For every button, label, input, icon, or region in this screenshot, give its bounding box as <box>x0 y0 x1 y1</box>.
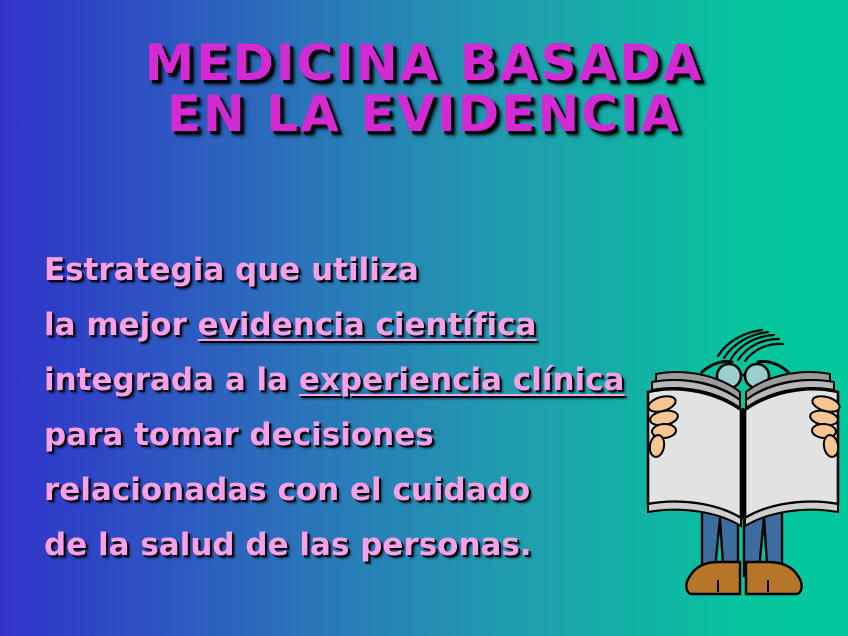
body-line-1: Estrategia que utiliza <box>44 243 684 298</box>
body-line-1-plain: Estrategia que utiliza <box>44 252 419 288</box>
body-line-4-plain: para tomar decisiones <box>44 417 434 453</box>
body-line-5: relacionadas con el cuidado <box>44 463 684 518</box>
body-line-2-plain: la mejor <box>44 307 198 343</box>
body-line-2: la mejor evidencia científica <box>44 298 684 353</box>
book-icon <box>648 389 838 526</box>
body-line-3-plain: integrada a la <box>44 362 299 398</box>
body-line-6: de la salud de las personas. <box>44 518 684 573</box>
body-line-3: integrada a la experiencia clínica <box>44 353 684 408</box>
body-line-6-plain: de la salud de las personas. <box>44 527 532 563</box>
emphasis-experiencia-clinica: experiencia clínica <box>299 362 625 398</box>
page-title: MEDICINA BASADA EN LA EVIDENCIA <box>0 38 848 140</box>
body-line-5-plain: relacionadas con el cuidado <box>44 472 530 508</box>
slide-canvas: MEDICINA BASADA EN LA EVIDENCIA Estrateg… <box>0 0 848 636</box>
title-line-1: MEDICINA BASADA <box>0 38 848 89</box>
hair-icon <box>718 330 783 361</box>
title-line-2: EN LA EVIDENCIA <box>0 89 848 140</box>
body-line-4: para tomar decisiones <box>44 408 684 463</box>
emphasis-evidencia-cientifica: evidencia científica <box>198 307 537 343</box>
person-reading-illustration <box>640 318 848 618</box>
body-text: Estrategia que utiliza la mejor evidenci… <box>44 243 684 573</box>
